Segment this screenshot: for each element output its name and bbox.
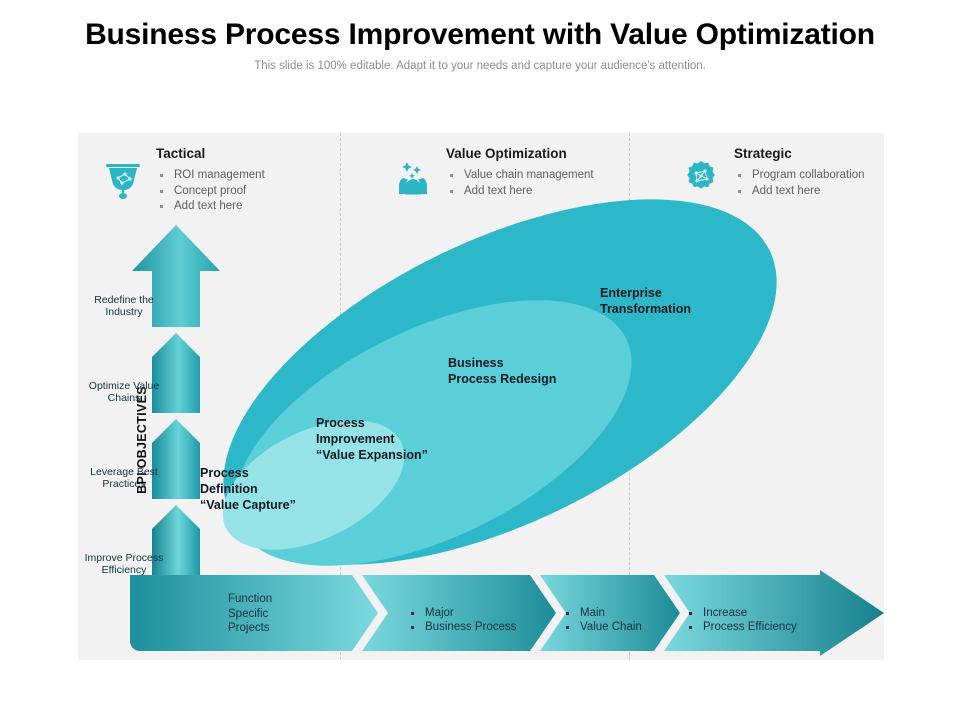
ellipse-label-line: Business: [448, 355, 556, 371]
ellipse-label-line: Process Redesign: [448, 371, 556, 387]
bullet-item: Concept proof: [156, 184, 265, 199]
bpi-step-label: Leverage Best Practices: [78, 460, 170, 491]
bullet-item: Add text here: [446, 184, 594, 199]
chain-label-line: Main: [563, 606, 642, 621]
category-title: Strategic: [734, 146, 792, 161]
page-title: Business Process Improvement with Value …: [0, 18, 960, 52]
ellipse-label-line: Transformation: [600, 301, 691, 317]
ellipse-label-line: Process: [200, 465, 296, 481]
chain-label-line: Increase: [686, 606, 797, 621]
bullet-item: ROI management: [156, 168, 265, 183]
chain-label-line: Value Chain: [563, 620, 642, 635]
ellipse-label-line: Definition: [200, 481, 296, 497]
hands-sparkle-icon: [390, 156, 436, 202]
chain-step-label: Increase Process Efficiency: [686, 606, 797, 635]
ellipse-label-enterprise-transformation: Enterprise Transformation: [600, 285, 691, 317]
chain-label-line: Business Process: [408, 620, 516, 635]
category-bullet-list: ROI management Concept proof Add text he…: [156, 168, 265, 215]
gear-network-icon: [678, 156, 724, 202]
ellipse-label-line: “Value Expansion”: [316, 447, 428, 463]
bpi-step-label: Redefine the Industry: [78, 288, 170, 319]
chain-label-line: Major: [408, 606, 516, 621]
ellipse-label-process-improvement: Process Improvement “Value Expansion”: [316, 415, 428, 463]
slide-root: Business Process Improvement with Value …: [0, 0, 960, 720]
beaker-network-icon: [100, 156, 146, 202]
bullet-item: Add text here: [156, 199, 265, 214]
chain-step-increase-process-efficiency: Increase Process Efficiency: [686, 582, 861, 658]
category-title: Value Optimization: [446, 146, 567, 161]
page-subtitle: This slide is 100% editable. Adapt it to…: [0, 60, 960, 72]
category-bullet-list: Value chain management Add text here: [446, 168, 594, 199]
bullet-item: Add text here: [734, 184, 865, 199]
chain-step-label: Major Business Process: [408, 606, 516, 635]
category-bullet-list: Program collaboration Add text here: [734, 168, 865, 199]
chain-step-major-business-process: Major Business Process: [408, 582, 568, 658]
ellipse-label-process-definition: Process Definition “Value Capture”: [200, 465, 296, 513]
ellipse-label-business-process-redesign: Business Process Redesign: [448, 355, 556, 387]
chain-step-function-specific-projects: Function Specific Projects: [228, 576, 338, 652]
ellipse-label-line: Improvement: [316, 431, 428, 447]
category-tactical[interactable]: Tactical ROI management Concept proof Ad…: [100, 146, 330, 232]
chain-label-line: Projects: [228, 621, 272, 636]
bpi-step-2: Optimize Value Chains: [78, 361, 170, 417]
bpi-step-3: Leverage Best Practices: [78, 447, 170, 503]
ellipse-label-line: Enterprise: [600, 285, 691, 301]
bpi-step-1: Redefine the Industry: [78, 275, 170, 331]
diagram-panel: Tactical ROI management Concept proof Ad…: [78, 133, 884, 660]
chain-label-line: Specific: [228, 607, 272, 622]
chain-label-line: Process Efficiency: [686, 620, 797, 635]
bpi-step-label: Improve Process Efficiency: [78, 546, 170, 577]
ellipse-label-line: Process: [316, 415, 428, 431]
bpi-step-label: Optimize Value Chains: [78, 374, 170, 405]
chain-step-label: Main Value Chain: [563, 606, 642, 635]
chain-step-label: Function Specific Projects: [228, 592, 272, 636]
ellipse-label-line: “Value Capture”: [200, 497, 296, 513]
bullet-item: Program collaboration: [734, 168, 865, 183]
chain-step-main-value-chain: Main Value Chain: [563, 582, 693, 658]
bullet-item: Value chain management: [446, 168, 594, 183]
chain-label-line: Function: [228, 592, 272, 607]
category-title: Tactical: [156, 146, 205, 161]
